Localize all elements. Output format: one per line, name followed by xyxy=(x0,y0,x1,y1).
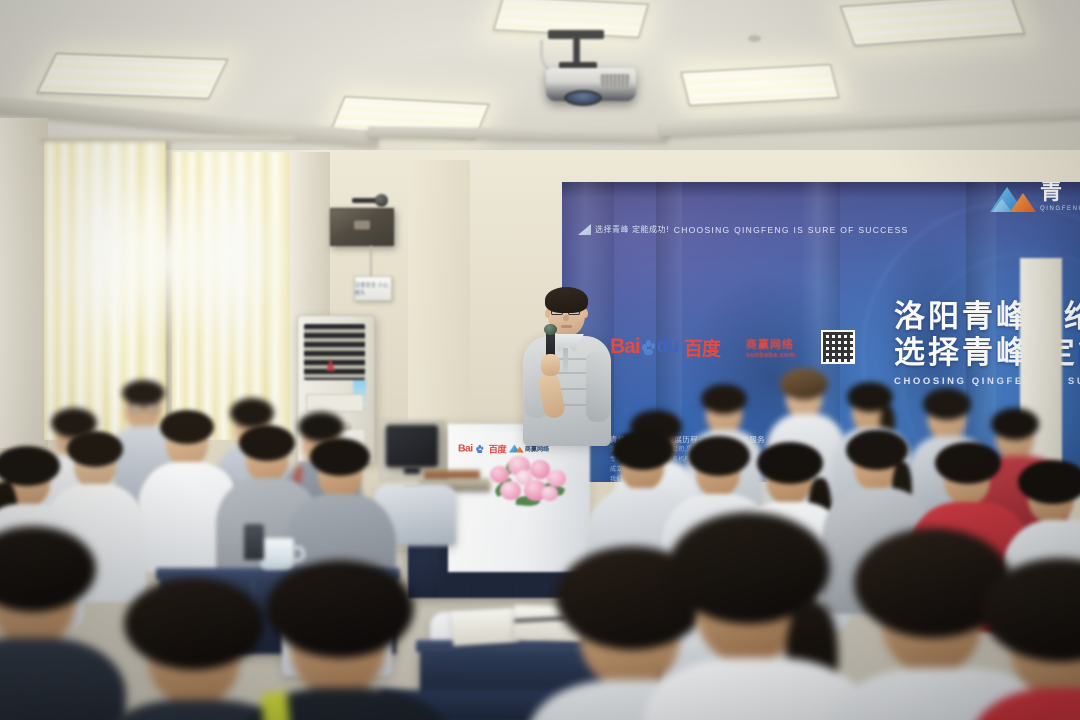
microphone-head-icon xyxy=(544,324,557,335)
thermos-flask[interactable] xyxy=(244,524,264,560)
tagline-chinese: 选择青峰 定能成功! xyxy=(595,224,670,235)
company-logo-english: QINGFENG xyxy=(1040,206,1080,212)
speaker-swivel-knob xyxy=(375,194,388,207)
baidu-du-text: du xyxy=(657,336,679,358)
ceiling-light-panel xyxy=(37,53,229,99)
wall-sign-text: 注意安全 小心碰头 xyxy=(355,281,391,296)
banner-tagline: 选择青峰 定能成功! CHOOSING QINGFENG IS SURE OF … xyxy=(578,224,909,235)
window-glow xyxy=(40,175,300,345)
partner-logo-chinese: 商赢网络 xyxy=(746,336,796,352)
ac-display-panel xyxy=(306,394,364,412)
mountain-peak-icon xyxy=(990,186,1036,212)
presenter-hand xyxy=(541,354,560,376)
projector xyxy=(546,68,636,101)
sign-cable xyxy=(370,246,372,278)
projector-lens xyxy=(564,90,602,106)
partner-logo-english: sunbaba.com xyxy=(746,352,796,359)
company-logo: 青 QINGFENG xyxy=(990,182,1080,212)
presenter-placket xyxy=(563,348,568,372)
smoke-detector-icon xyxy=(748,35,761,42)
company-logo-chinese: 青 xyxy=(1040,182,1062,204)
wall-pillar-right xyxy=(408,160,470,450)
flower-bouquet xyxy=(486,448,572,510)
conference-photo-scene: 注意安全 小心碰头 注意安全 选择青峰 定能成功! CHOOSING QINGF… xyxy=(0,0,1080,720)
partner-logo: 商赢网络 sunbaba.com xyxy=(746,336,796,359)
monitor-screen xyxy=(388,427,436,465)
wall-speaker xyxy=(330,208,394,246)
ac-grille xyxy=(304,324,365,380)
projector-vent xyxy=(600,74,630,88)
baidu-chinese-text: 百度 xyxy=(684,334,720,361)
podium-baidu-bai: Bai xyxy=(458,442,473,454)
podium-baidu-paw-icon xyxy=(475,444,483,453)
document-folder xyxy=(424,470,480,479)
baidu-paw-icon xyxy=(641,339,656,355)
baidu-bai-text: Bai xyxy=(610,335,640,359)
tagline-triangle-icon xyxy=(578,224,591,235)
sponsor-logos: Bai du 百度 商赢网络 sunbaba.com xyxy=(610,330,855,364)
baidu-logo: Bai du 百度 xyxy=(610,334,720,361)
tagline-english: CHOOSING QINGFENG IS SURE OF SUCCESS xyxy=(674,225,909,235)
wall-sign: 注意安全 小心碰头 xyxy=(354,276,392,301)
presenter-ear xyxy=(583,309,588,318)
mug[interactable] xyxy=(260,538,294,570)
mug-handle xyxy=(292,546,305,562)
qr-code-icon xyxy=(821,330,855,364)
monitor xyxy=(386,425,438,467)
presenter-right-arm xyxy=(586,352,611,422)
monitor-stand xyxy=(404,467,420,474)
presenter-hair xyxy=(545,287,588,313)
curtain-rod xyxy=(40,136,295,142)
